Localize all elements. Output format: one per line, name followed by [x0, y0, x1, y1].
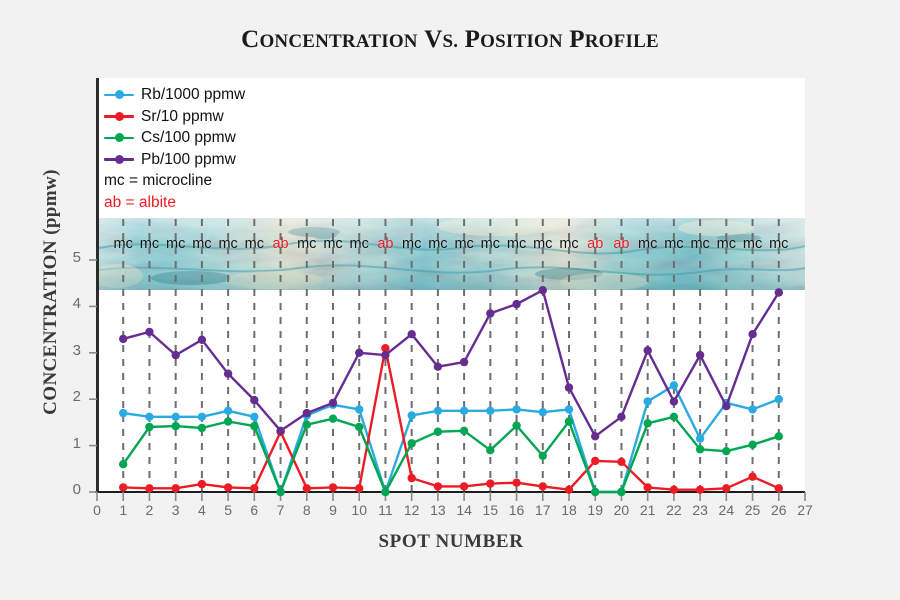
chart-title: CONCENTRATION VS. POSITION PROFILE	[0, 26, 900, 54]
mineral-label-mc: mc	[690, 234, 709, 254]
y-tick-label: 1	[57, 435, 81, 452]
mineral-label-ab: ab	[587, 234, 603, 254]
legend-item: Sr/10 ppmw	[104, 106, 245, 128]
mineral-label-mc: mc	[140, 234, 159, 254]
legend-note: ab = albite	[104, 192, 245, 214]
legend-item: Cs/100 ppmw	[104, 127, 245, 149]
legend-item: Pb/100 ppmw	[104, 149, 245, 171]
legend-label: Sr/10 ppmw	[141, 106, 224, 128]
mineral-label-mc: mc	[192, 234, 211, 254]
mineral-label-mc: mc	[245, 234, 264, 254]
y-tick-label: 3	[57, 342, 81, 359]
mineral-label-mc: mc	[664, 234, 683, 254]
mineral-label-mc: mc	[323, 234, 342, 254]
mineral-label-mc: mc	[454, 234, 473, 254]
mineral-label-ab: ab	[613, 234, 629, 254]
mineral-label-mc: mc	[481, 234, 500, 254]
mineral-label-ab: ab	[272, 234, 288, 254]
y-tick-label: 4	[57, 295, 81, 312]
mineral-label-row: mcmcmcmcmcmcabmcmcmcabmcmcmcmcmcmcmcabab…	[99, 234, 805, 254]
x-axis-label: SPOT NUMBER	[97, 531, 805, 553]
legend-marker-icon	[104, 131, 134, 145]
thin-section-strip-image	[99, 218, 805, 290]
legend-label: Cs/100 ppmw	[141, 127, 236, 149]
y-tick-label: 0	[57, 481, 81, 498]
mineral-label-mc: mc	[402, 234, 421, 254]
mineral-label-ab: ab	[377, 234, 393, 254]
mineral-label-mc: mc	[533, 234, 552, 254]
mineral-label-mc: mc	[638, 234, 657, 254]
mineral-label-mc: mc	[559, 234, 578, 254]
mineral-label-mc: mc	[717, 234, 736, 254]
chart-legend: Rb/1000 ppmwSr/10 ppmwCs/100 ppmwPb/100 …	[104, 84, 245, 213]
y-tick-label: 5	[57, 249, 81, 266]
mineral-label-mc: mc	[507, 234, 526, 254]
chart-figure: CONCENTRATION VS. POSITION PROFILE	[0, 0, 900, 600]
x-tick-label: 27	[790, 502, 820, 518]
legend-item: Rb/1000 ppmw	[104, 84, 245, 106]
legend-marker-icon	[104, 88, 134, 102]
mineral-label-mc: mc	[350, 234, 369, 254]
legend-note: mc = microcline	[104, 170, 245, 192]
legend-label: Pb/100 ppmw	[141, 149, 236, 171]
mineral-label-mc: mc	[769, 234, 788, 254]
mineral-label-mc: mc	[297, 234, 316, 254]
mineral-label-mc: mc	[743, 234, 762, 254]
y-tick-label: 2	[57, 388, 81, 405]
mineral-label-mc: mc	[166, 234, 185, 254]
legend-label: Rb/1000 ppmw	[141, 84, 245, 106]
legend-marker-icon	[104, 152, 134, 166]
legend-marker-icon	[104, 109, 134, 123]
mineral-label-mc: mc	[218, 234, 237, 254]
mineral-label-mc: mc	[428, 234, 447, 254]
strip-svg	[99, 218, 805, 290]
mineral-label-mc: mc	[114, 234, 133, 254]
